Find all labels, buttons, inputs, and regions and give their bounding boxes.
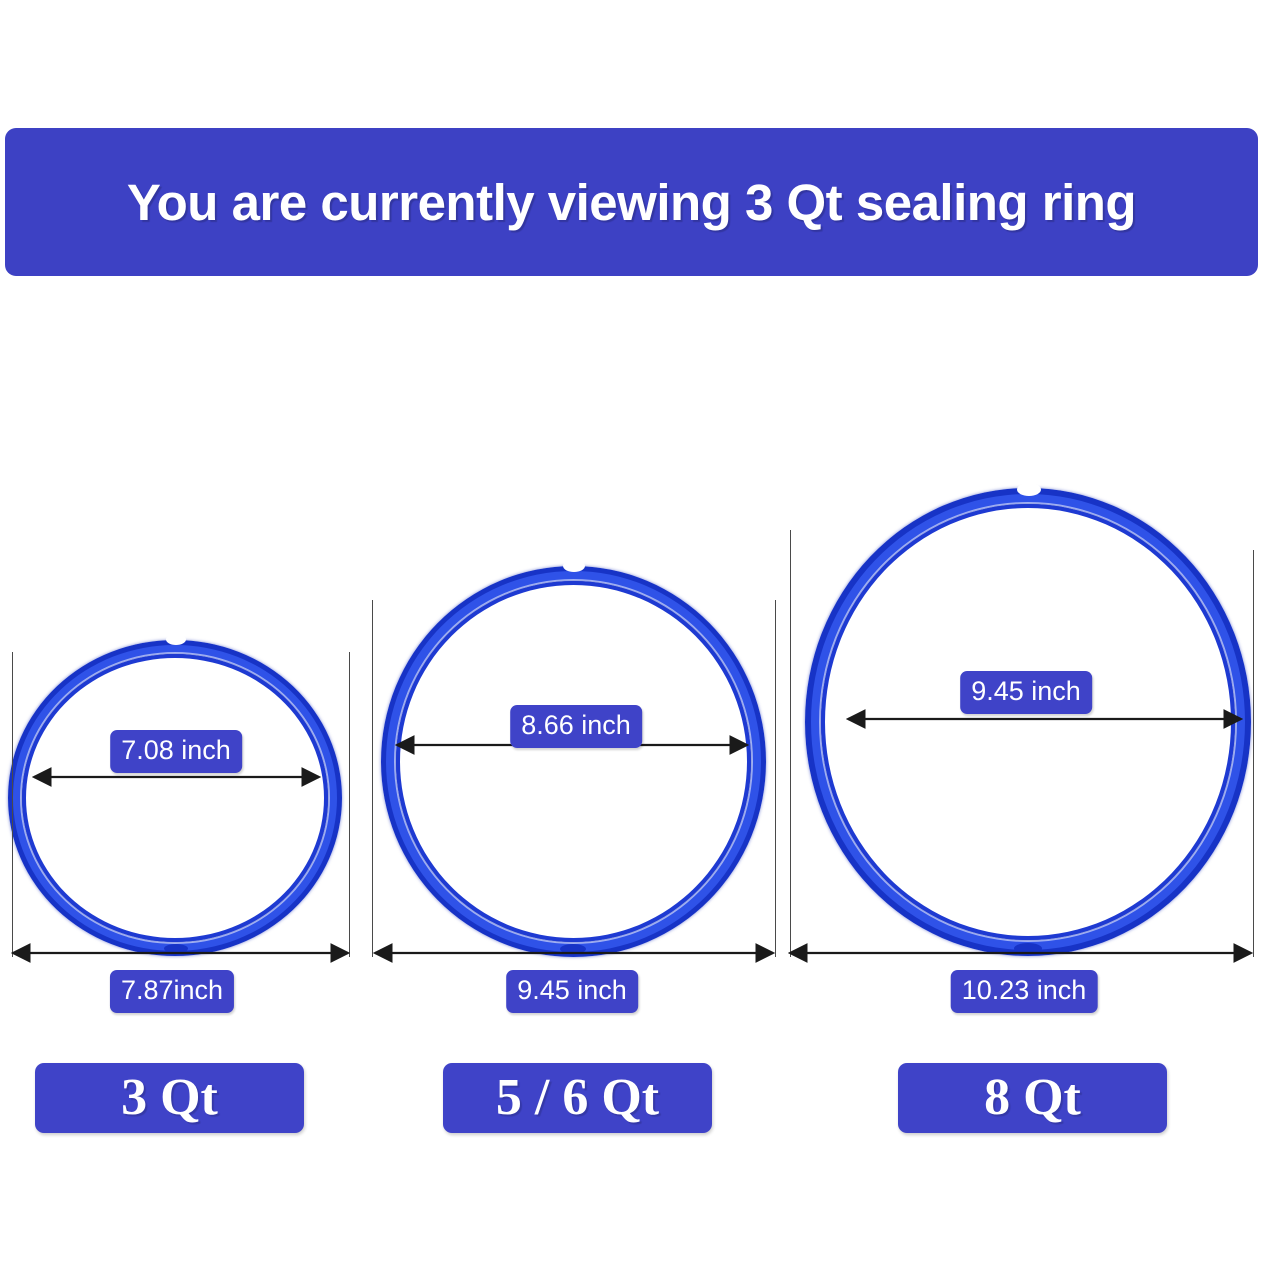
inner-diameter-label-8qt: 9.45 inch	[960, 671, 1092, 714]
sealing-ring-3qt-graphic	[8, 640, 342, 956]
outer-dimension-arrow-8qt	[785, 936, 1260, 970]
ring-notch-5-6qt	[563, 560, 585, 572]
extension-line-left-8qt	[790, 530, 791, 957]
outer-diameter-label-5-6qt: 9.45 inch	[506, 970, 638, 1013]
size-pill-5-6qt: 5 / 6 Qt	[443, 1063, 712, 1133]
inner-diameter-label-3qt: 7.08 inch	[110, 730, 242, 773]
outer-diameter-label-3qt: 7.87inch	[110, 970, 234, 1013]
ring-notch-8qt	[1017, 483, 1041, 496]
extension-line-right-8qt	[1253, 550, 1254, 957]
extension-line-right-3qt	[349, 652, 350, 957]
size-pill-8qt: 8 Qt	[898, 1063, 1167, 1133]
size-pill-3qt: 3 Qt	[35, 1063, 304, 1133]
inner-diameter-label-5-6qt: 8.66 inch	[510, 705, 642, 748]
outer-dimension-arrow-5-6qt	[370, 936, 790, 970]
extension-line-right-5-6qt	[775, 600, 776, 957]
extension-line-left-3qt	[12, 652, 13, 957]
size-comparison-diagram: 7.08 inch 7.87inch 3 Qt 8.66 inch 9.45 i…	[0, 0, 1264, 1264]
outer-diameter-label-8qt: 10.23 inch	[951, 970, 1098, 1013]
ring-band-inner	[22, 654, 328, 942]
ring-notch-3qt	[166, 634, 186, 645]
outer-dimension-arrow-3qt	[0, 936, 360, 970]
extension-line-left-5-6qt	[372, 600, 373, 957]
